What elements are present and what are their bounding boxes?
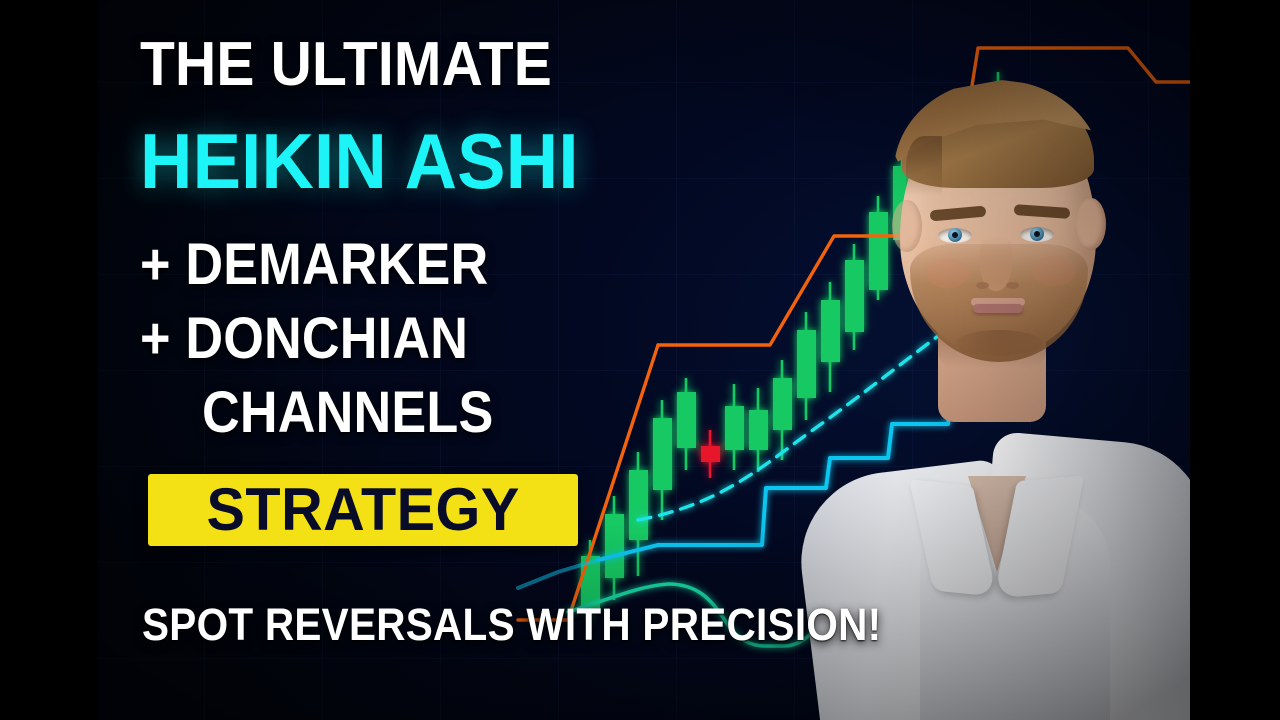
bullet-line-1: + DEMARKER	[140, 236, 527, 294]
bullet-line-3-text: CHANNELS	[202, 384, 493, 442]
letterbox-left	[0, 0, 98, 720]
thumbnail-stage: THE ULTIMATE HEIKIN ASHI + DEMARKER + DO…	[0, 0, 1280, 720]
letterbox-right	[1190, 0, 1280, 720]
headline-line-1: THE ULTIMATE	[140, 34, 588, 96]
tagline-text: SPOT REVERSALS WITH PRECISION!	[142, 602, 881, 647]
headline-line-2: HEIKIN ASHI	[140, 122, 612, 200]
headline-line-1-text: THE ULTIMATE	[140, 34, 552, 96]
strategy-badge: STRATEGY	[148, 474, 578, 546]
bullet-line-3: CHANNELS	[202, 384, 526, 442]
strategy-badge-label: STRATEGY	[206, 480, 519, 540]
tagline: SPOT REVERSALS WITH PRECISION!	[142, 602, 964, 647]
bullet-line-2: + DONCHIAN	[140, 310, 505, 368]
strategy-badge-label-wrap: STRATEGY	[200, 480, 526, 540]
headline-line-2-text: HEIKIN ASHI	[140, 122, 579, 200]
bullet-line-2-text: + DONCHIAN	[140, 310, 468, 368]
bullet-line-1-text: + DEMARKER	[140, 236, 488, 294]
